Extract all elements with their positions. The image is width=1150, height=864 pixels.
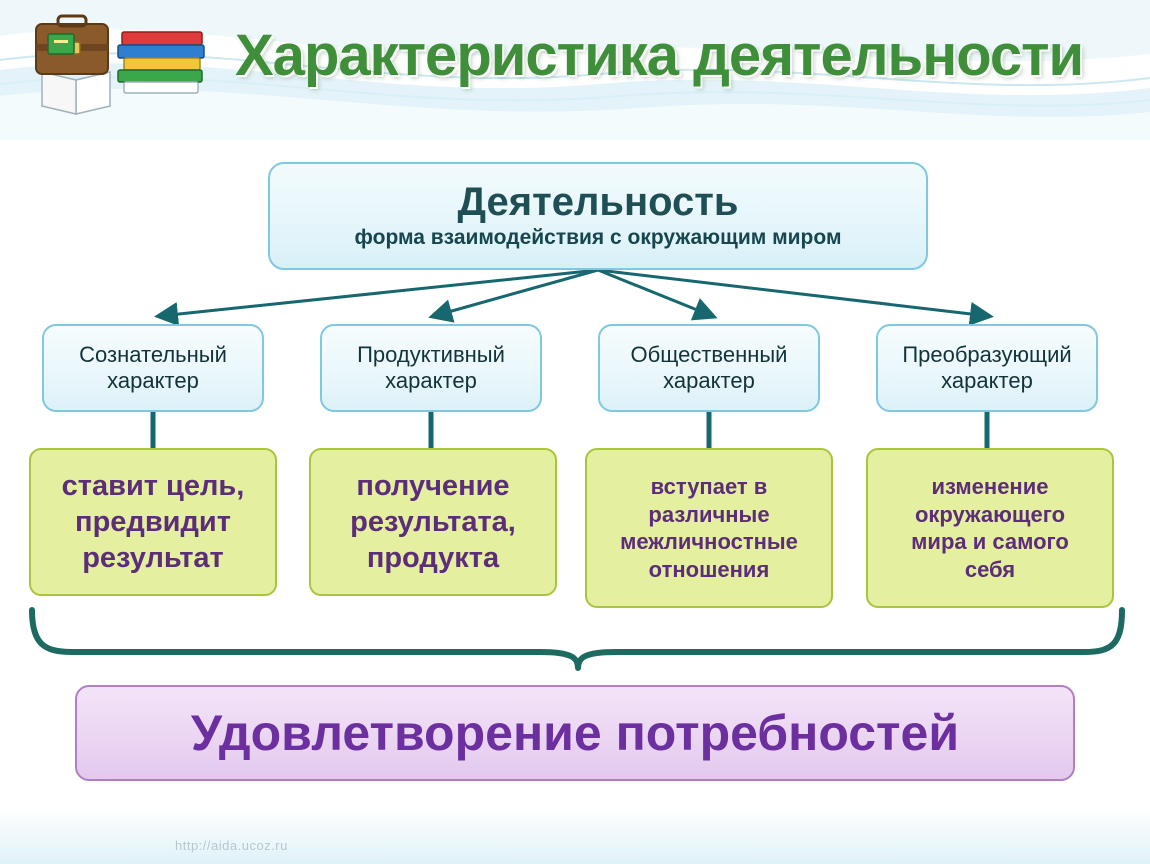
detail-node-2[interactable]: получение результата, продукта xyxy=(309,448,557,596)
briefcase-and-books-icon xyxy=(18,10,218,130)
source-url: http://aida.ucoz.ru xyxy=(175,838,288,853)
branch-node-2[interactable]: Продуктивный характер xyxy=(320,324,542,412)
conclusion-node[interactable]: Удовлетворение потребностей xyxy=(75,685,1075,781)
root-node-subtitle: форма взаимодействия с окружающим миром xyxy=(355,226,842,249)
conclusion-node-label: Удовлетворение потребностей xyxy=(191,704,959,762)
header-band: Характеристика деятельности xyxy=(0,0,1150,148)
page-title: Характеристика деятельности xyxy=(235,22,1135,104)
diagram-canvas: Деятельность форма взаимодействия с окру… xyxy=(0,148,1150,808)
branch-node-2-label: Продуктивный характер xyxy=(357,342,505,395)
branch-node-4-label: Преобразующий характер xyxy=(902,342,1071,395)
detail-node-1[interactable]: ставит цель, предвидит результат xyxy=(29,448,277,596)
detail-node-4[interactable]: изменение окружающего мира и самого себя xyxy=(866,448,1114,608)
detail-node-3-label: вступает в различные межличностные отнош… xyxy=(620,473,798,583)
root-node-title: Деятельность xyxy=(458,182,739,222)
branch-node-3[interactable]: Общественный характер xyxy=(598,324,820,412)
branch-node-1-label: Сознательный характер xyxy=(79,342,227,395)
detail-node-3[interactable]: вступает в различные межличностные отнош… xyxy=(585,448,833,608)
detail-node-1-label: ставит цель, предвидит результат xyxy=(62,468,245,577)
detail-node-2-label: получение результата, продукта xyxy=(350,468,516,577)
branch-node-3-label: Общественный характер xyxy=(631,342,788,395)
root-node[interactable]: Деятельность форма взаимодействия с окру… xyxy=(268,162,928,270)
branch-node-4[interactable]: Преобразующий характер xyxy=(876,324,1098,412)
footer-band xyxy=(0,808,1150,864)
detail-node-4-label: изменение окружающего мира и самого себя xyxy=(911,473,1069,583)
branch-node-1[interactable]: Сознательный характер xyxy=(42,324,264,412)
